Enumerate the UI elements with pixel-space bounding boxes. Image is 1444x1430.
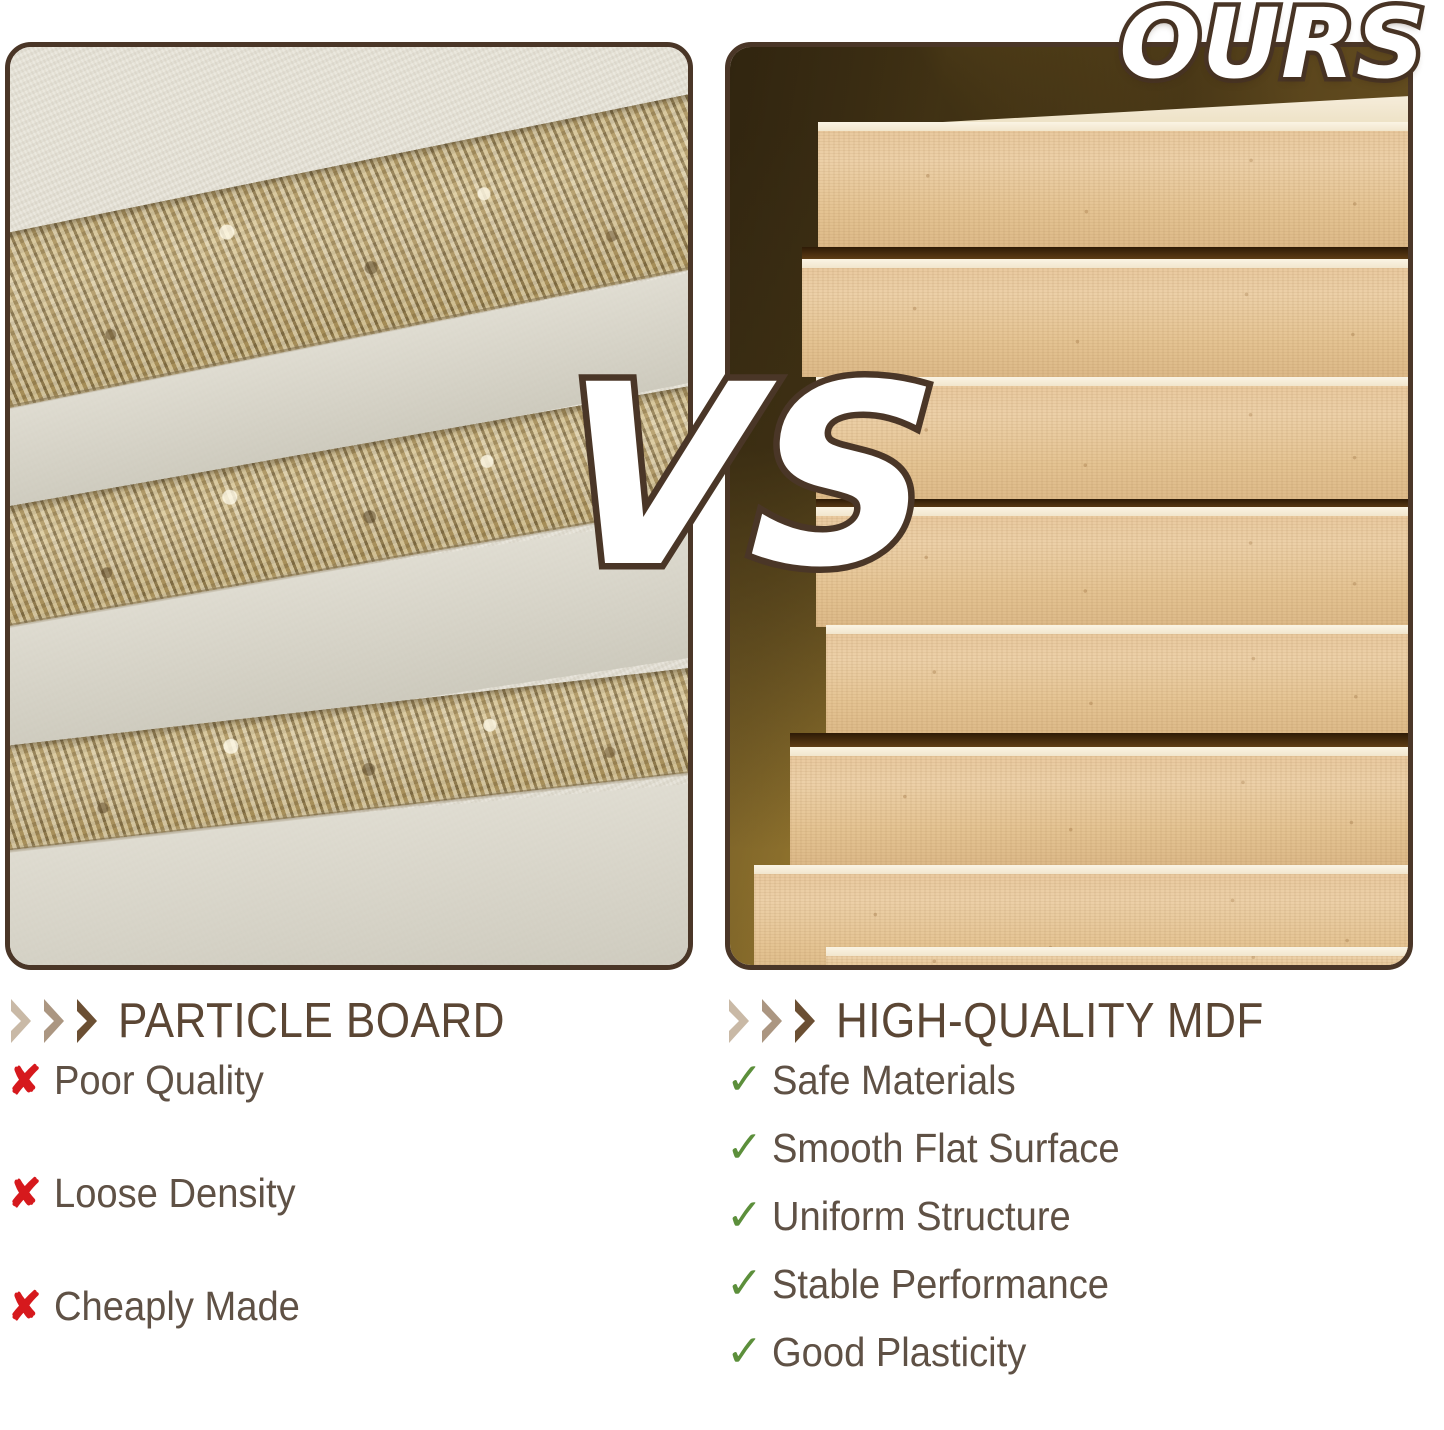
cross-mark-icon: ✘ (8, 1174, 54, 1214)
comparison-section: PARTICLE BOARD ✘ Poor Quality ✘ Loose De… (0, 985, 1444, 1430)
chevron-group-right (726, 997, 818, 1045)
list-item: ✘ Poor Quality (8, 1057, 722, 1170)
mdf-board (790, 747, 1413, 865)
list-item: ✓ Stable Performance (726, 1261, 1444, 1329)
list-item-label: Poor Quality (54, 1057, 264, 1104)
board-edge-highlight (754, 865, 1413, 874)
list-item: ✓ Uniform Structure (726, 1193, 1444, 1261)
cross-mark-icon: ✘ (8, 1061, 54, 1101)
chevron-right-icon (8, 997, 34, 1045)
cross-mark-icon: ✘ (8, 1287, 54, 1327)
mdf-heading: HIGH-QUALITY MDF (836, 993, 1264, 1049)
mdf-heading-row: HIGH-QUALITY MDF (726, 985, 1444, 1057)
mdf-board (818, 122, 1413, 250)
mdf-column: HIGH-QUALITY MDF ✓ Safe Materials ✓ Smoo… (722, 985, 1444, 1430)
ours-badge: OURS (1119, 0, 1426, 100)
list-item: ✓ Good Plasticity (726, 1329, 1444, 1397)
chevron-right-icon (759, 997, 785, 1045)
check-mark-icon: ✓ (726, 1058, 772, 1102)
board-edge-highlight (826, 947, 1413, 956)
list-item-label: Good Plasticity (772, 1329, 1026, 1376)
list-item-label: Safe Materials (772, 1057, 1016, 1104)
list-item-label: Loose Density (54, 1170, 296, 1217)
particle-board-heading-row: PARTICLE BOARD (8, 985, 722, 1057)
chevron-right-icon (41, 997, 67, 1045)
check-mark-icon: ✓ (726, 1126, 772, 1170)
check-mark-icon: ✓ (726, 1194, 772, 1238)
list-item-label: Uniform Structure (772, 1193, 1071, 1240)
list-item: ✘ Loose Density (8, 1170, 722, 1283)
mdf-board (826, 625, 1413, 737)
list-item: ✓ Smooth Flat Surface (726, 1125, 1444, 1193)
check-mark-icon: ✓ (726, 1330, 772, 1374)
check-mark-icon: ✓ (726, 1262, 772, 1306)
chevron-group-left (8, 997, 100, 1045)
chevron-right-icon (74, 997, 100, 1045)
board-edge-highlight (818, 122, 1413, 131)
list-item-label: Smooth Flat Surface (772, 1125, 1120, 1172)
particle-board-list: ✘ Poor Quality ✘ Loose Density ✘ Cheaply… (8, 1057, 722, 1396)
chevron-right-icon (792, 997, 818, 1045)
board-edge-highlight (790, 747, 1413, 756)
chevron-right-icon (726, 997, 752, 1045)
mdf-board (826, 947, 1413, 970)
board-edge-highlight (802, 259, 1413, 268)
list-item: ✘ Cheaply Made (8, 1283, 722, 1396)
list-item-label: Cheaply Made (54, 1283, 300, 1330)
particle-board-heading: PARTICLE BOARD (118, 993, 505, 1049)
mdf-list: ✓ Safe Materials ✓ Smooth Flat Surface ✓… (726, 1057, 1444, 1397)
vs-badge: VS (551, 352, 942, 602)
list-item-label: Stable Performance (772, 1261, 1109, 1308)
board-edge-highlight (826, 625, 1413, 634)
list-item: ✓ Safe Materials (726, 1057, 1444, 1125)
particle-board-column: PARTICLE BOARD ✘ Poor Quality ✘ Loose De… (0, 985, 722, 1430)
